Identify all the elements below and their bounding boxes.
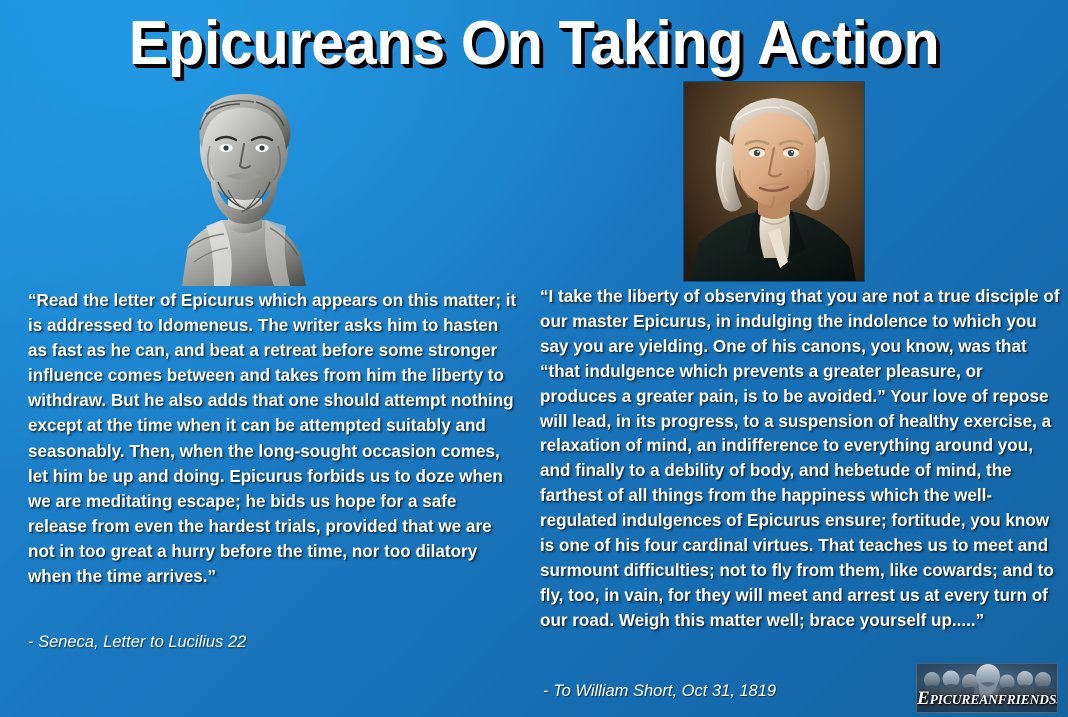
right-quote-attribution: - To William Short, Oct 31, 1819 [543, 681, 776, 701]
epicureanfriends-logo[interactable]: EPICUREANFRIENDS.COM [916, 663, 1058, 713]
left-quote-attribution: - Seneca, Letter to Lucilius 22 [28, 632, 246, 652]
logo-word-rest: PICUREANFRIENDS.COM [930, 692, 1058, 707]
logo-initial: E [917, 688, 930, 709]
logo-wordmark: EPICUREANFRIENDS.COM [917, 688, 1058, 710]
right-quote-text: “I take the liberty of observing that yo… [540, 285, 1060, 634]
epicurus-bust-image [170, 86, 315, 286]
page-title: Epicureans On Taking Action [21, 8, 1046, 80]
left-quote-text: “Read the letter of Epicurus which appea… [28, 288, 520, 589]
poster-canvas: Epicureans On Taking Action [0, 0, 1068, 717]
thomas-jefferson-portrait-image [684, 82, 864, 281]
